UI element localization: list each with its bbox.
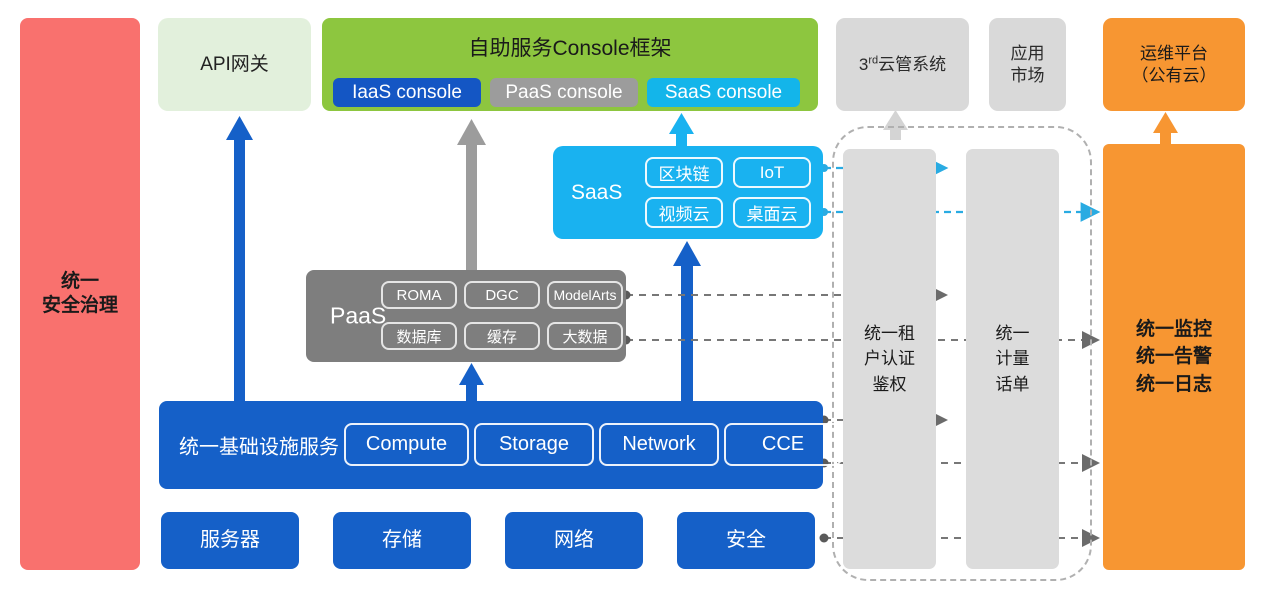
panel-hardware-security[interactable]: 安全 — [677, 512, 815, 569]
column-auth-line2: 户认证 — [864, 346, 915, 372]
arrow-infra-to-apigw — [226, 116, 253, 410]
infra-tag-cce-label: CCE — [762, 433, 804, 456]
infra-tag-network[interactable]: Network — [599, 423, 719, 466]
monitoring-line3: 统一日志 — [1136, 371, 1212, 399]
panel-paas[interactable]: PaaS ROMA DGC ModelArts 数据库 缓存 大数据 — [306, 270, 626, 362]
saas-label: SaaS — [571, 181, 622, 205]
panel-application-market[interactable]: 应用 市场 — [989, 18, 1066, 111]
monitoring-line2: 统一告警 — [1136, 343, 1212, 371]
column-auth-line3: 鉴权 — [873, 372, 907, 398]
paas-tag-cache[interactable]: 缓存 — [464, 322, 540, 350]
infra-tag-compute-label: Compute — [366, 433, 447, 456]
paas-tag-bigdata[interactable]: 大数据 — [547, 322, 623, 350]
ops-platform-line2: （公有云） — [1132, 65, 1217, 86]
saas-tag-iot[interactable]: IoT — [733, 157, 811, 188]
chip-paas-console[interactable]: PaaS console — [490, 78, 638, 107]
paas-tag-roma[interactable]: ROMA — [381, 281, 457, 309]
infra-tag-compute[interactable]: Compute — [344, 423, 469, 466]
panel-unified-security-governance[interactable]: 统一 安全治理 — [20, 18, 140, 570]
panel-third-party-cloud-management[interactable]: 3rd云管系统 — [836, 18, 969, 111]
panel-unified-infrastructure-service[interactable]: 统一基础设施服务 Compute Storage Network CCE — [159, 401, 823, 489]
infra-tag-storage-label: Storage — [499, 433, 569, 456]
paas-tag-database-label: 数据库 — [396, 326, 441, 347]
panel-saas[interactable]: SaaS 区块链 IoT 视频云 桌面云 — [553, 146, 823, 239]
arrow-ops-to-ops-platform — [1153, 112, 1178, 148]
panel-self-service-console-framework[interactable]: 自助服务Console框架 IaaS console PaaS console … — [322, 18, 818, 111]
panel-hardware-network[interactable]: 网络 — [505, 512, 643, 569]
chip-paas-label: PaaS console — [505, 81, 622, 105]
paas-tag-cache-label: 缓存 — [487, 326, 517, 347]
column-metering-line1: 统一 — [996, 321, 1030, 347]
monitoring-line1: 统一监控 — [1136, 316, 1212, 344]
column-unified-auth[interactable]: 统一租 户认证 鉴权 — [843, 149, 936, 569]
hardware-network-label: 网络 — [554, 528, 594, 553]
arrow-paas-to-console — [457, 119, 486, 270]
ops-platform-line1: 运维平台 — [1140, 43, 1208, 64]
paas-tag-bigdata-label: 大数据 — [562, 326, 607, 347]
paas-tag-dgc[interactable]: DGC — [464, 281, 540, 309]
saas-tag-video-cloud-label: 视频云 — [659, 200, 710, 225]
column-metering-line2: 计量 — [996, 346, 1030, 372]
panel-hardware-server[interactable]: 服务器 — [161, 512, 299, 569]
third-party-label: 3rd云管系统 — [859, 54, 946, 75]
security-line2: 安全治理 — [42, 294, 118, 318]
saas-tag-blockchain[interactable]: 区块链 — [645, 157, 723, 188]
column-unified-metering[interactable]: 统一 计量 话单 — [966, 149, 1059, 569]
paas-tag-roma-label: ROMA — [397, 287, 442, 304]
security-line1: 统一 — [61, 270, 99, 294]
column-auth-line1: 统一租 — [864, 321, 915, 347]
paas-tag-database[interactable]: 数据库 — [381, 322, 457, 350]
chip-saas-label: SaaS console — [665, 81, 782, 105]
app-market-line2: 市场 — [1011, 65, 1045, 86]
saas-tag-desktop-cloud[interactable]: 桌面云 — [733, 197, 811, 228]
panel-api-gateway[interactable]: API网关 — [158, 18, 311, 111]
chip-iaas-console[interactable]: IaaS console — [333, 78, 481, 107]
app-market-line1: 应用 — [1011, 43, 1045, 64]
infra-tag-storage[interactable]: Storage — [474, 423, 594, 466]
dot — [820, 534, 829, 543]
third-party-prefix: 3 — [859, 55, 868, 74]
console-framework-title: 自助服务Console框架 — [322, 36, 818, 62]
paas-tag-modelarts[interactable]: ModelArts — [547, 281, 623, 309]
column-metering-line3: 话单 — [996, 372, 1030, 398]
saas-tag-iot-label: IoT — [760, 163, 785, 183]
architecture-diagram: 统一租 户认证 鉴权 统一 计量 话单 统一 安全治理 API网关 自助服务Co… — [0, 0, 1265, 605]
paas-label: PaaS — [330, 303, 386, 330]
panel-ops-platform-public-cloud[interactable]: 运维平台 （公有云） — [1103, 18, 1245, 111]
panel-hardware-storage[interactable]: 存储 — [333, 512, 471, 569]
hardware-security-label: 安全 — [726, 528, 766, 553]
third-party-sup: rd — [868, 54, 878, 66]
saas-tag-desktop-cloud-label: 桌面云 — [747, 200, 798, 225]
chip-iaas-label: IaaS console — [352, 81, 462, 105]
chip-saas-console[interactable]: SaaS console — [647, 78, 800, 107]
arrow-infra-to-saas — [673, 241, 701, 410]
infrastructure-label: 统一基础设施服务 — [179, 431, 339, 460]
third-party-suffix: 云管系统 — [878, 55, 946, 74]
api-gateway-label: API网关 — [200, 53, 269, 77]
panel-unified-monitoring-column[interactable]: 统一监控 统一告警 统一日志 — [1103, 144, 1245, 570]
hardware-storage-label: 存储 — [382, 528, 422, 553]
saas-tag-video-cloud[interactable]: 视频云 — [645, 197, 723, 228]
infra-tag-network-label: Network — [622, 433, 695, 456]
infra-tag-cce[interactable]: CCE — [724, 423, 842, 466]
hardware-server-label: 服务器 — [200, 528, 260, 553]
paas-tag-dgc-label: DGC — [485, 287, 518, 304]
paas-tag-modelarts-label: ModelArts — [553, 287, 616, 303]
saas-tag-blockchain-label: 区块链 — [659, 160, 710, 185]
